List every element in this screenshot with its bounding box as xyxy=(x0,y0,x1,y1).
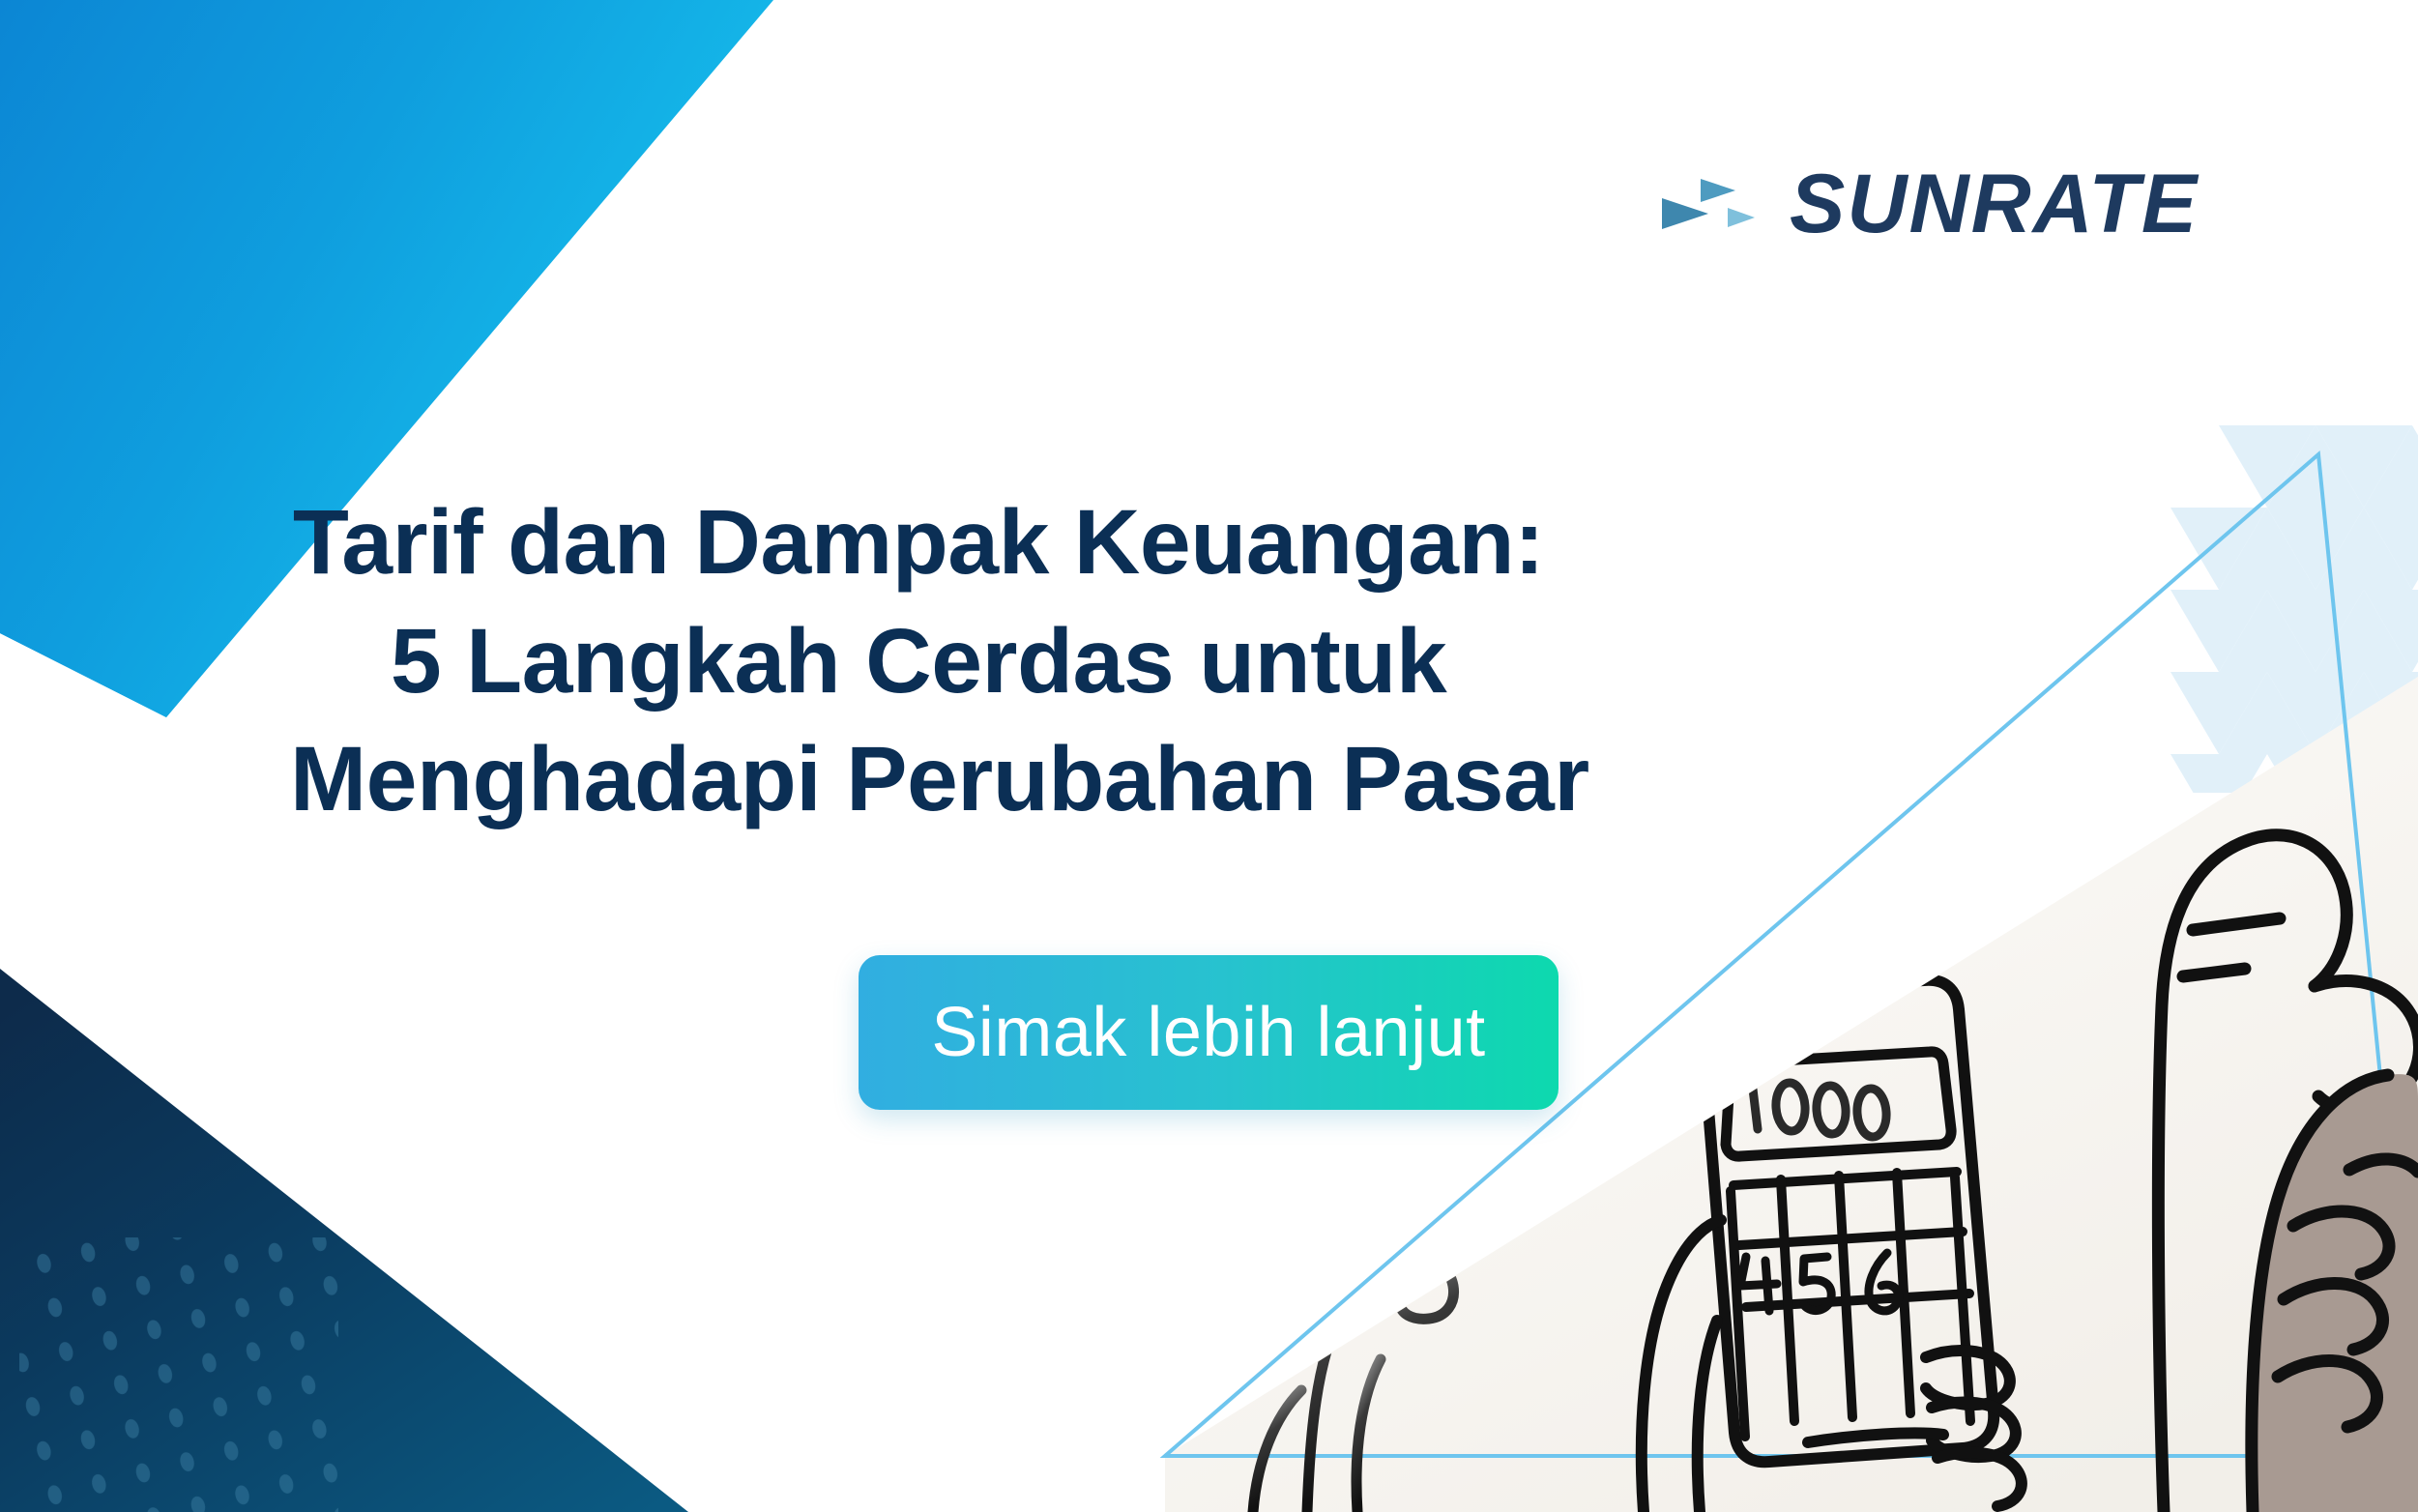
logo-wordmark: SUNRATE xyxy=(1790,162,2199,246)
triple-triangle-icon xyxy=(1658,171,1764,237)
headline-line-3: Menghadapi Perubahan Pasar xyxy=(290,720,1547,839)
marketing-banner: SUNRATE Tarif dan Dampak Keuangan: 5 Lan… xyxy=(0,0,2418,1512)
headline-line-2: 5 Langkah Cerdas untuk xyxy=(290,602,1547,721)
sunrate-logo[interactable]: SUNRATE xyxy=(1658,162,2199,246)
read-more-button[interactable]: Simak lebih lanjut xyxy=(859,955,1559,1110)
page-title: Tarif dan Dampak Keuangan: 5 Langkah Cer… xyxy=(290,483,1547,839)
headline-line-1: Tarif dan Dampak Keuangan: xyxy=(290,483,1547,602)
knuckle-crease-2 xyxy=(2183,969,2245,976)
